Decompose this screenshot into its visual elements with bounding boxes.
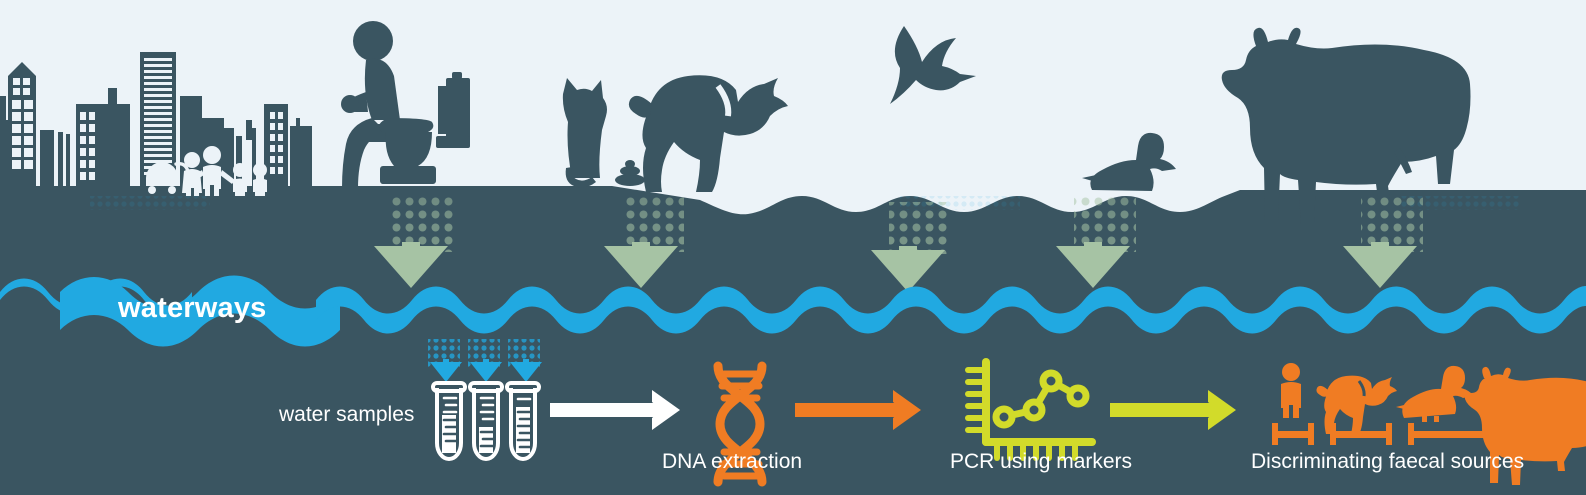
sample-intake-arrows [428,339,542,382]
step-label-water-samples: water samples [279,403,414,427]
step-label-faecal-sources: Discriminating faecal sources [1251,450,1524,474]
scene-graphics [0,0,1586,495]
step-label-pcr-markers: PCR using markers [950,450,1132,474]
infographic-root: waterways water samples DNA extraction P… [0,0,1586,495]
step-label-dna-extraction: DNA extraction [662,450,802,474]
ground-and-water-mass [0,186,1586,495]
ground-silhouette [0,186,1586,495]
waterways-label: waterways [118,292,267,325]
